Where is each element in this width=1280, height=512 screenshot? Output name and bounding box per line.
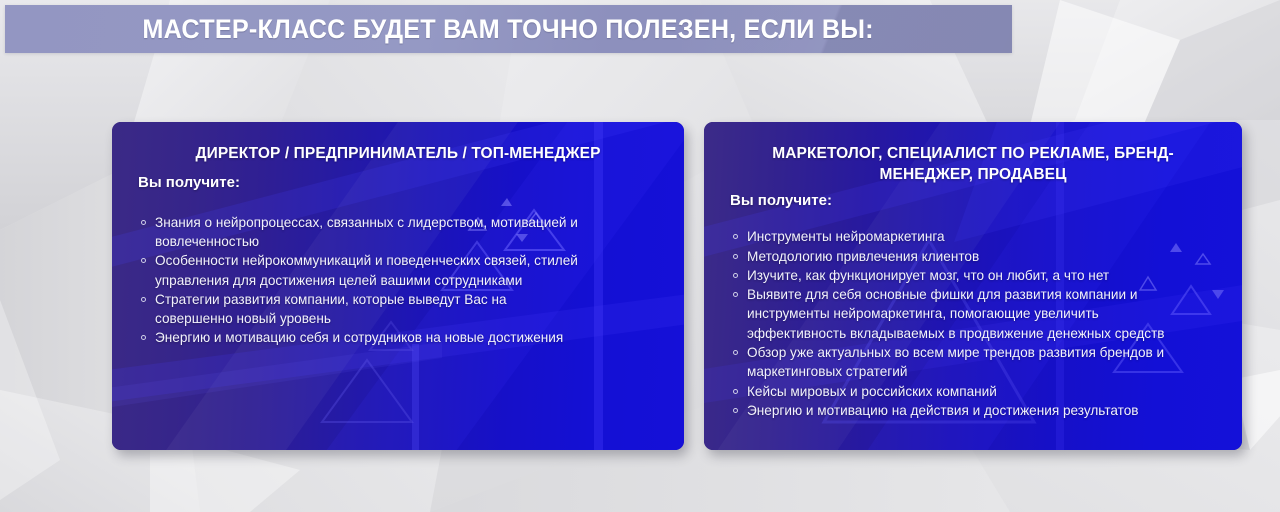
list-item: Методологию привлечения клиентов: [730, 247, 1199, 266]
card-content: МАРКЕТОЛОГ, СПЕЦИАЛИСТ ПО РЕКЛАМЕ, БРЕНД…: [704, 122, 1242, 450]
card-content: ДИРЕКТОР / ПРЕДПРИНИМАТЕЛЬ / ТОП-МЕНЕДЖЕ…: [112, 122, 684, 450]
list-item: Особенности нейрокоммуникаций и поведенч…: [138, 251, 585, 290]
list-item: Кейсы мировых и российских компаний: [730, 382, 1199, 401]
list-item: Обзор уже актуальных во всем мире трендо…: [730, 343, 1199, 382]
benefit-list: Знания о нейропроцессах, связанных с лид…: [138, 213, 658, 348]
list-item: Энергию и мотивацию себя и сотрудников н…: [138, 328, 585, 347]
list-item: Стратегии развития компании, которые выв…: [138, 290, 585, 329]
list-item: Знания о нейропроцессах, связанных с лид…: [138, 213, 585, 252]
list-item: Изучите, как функционирует мозг, что он …: [730, 266, 1199, 285]
card-title: ДИРЕКТОР / ПРЕДПРИНИМАТЕЛЬ / ТОП-МЕНЕДЖЕ…: [146, 144, 650, 165]
card-subtitle: Вы получите:: [138, 174, 658, 191]
card-title: МАРКЕТОЛОГ, СПЕЦИАЛИСТ ПО РЕКЛАМЕ, БРЕНД…: [738, 144, 1208, 185]
cards-container: ДИРЕКТОР / ПРЕДПРИНИМАТЕЛЬ / ТОП-МЕНЕДЖЕ…: [0, 0, 1280, 512]
slide-root: МАСТЕР-КЛАСС БУДЕТ ВАМ ТОЧНО ПОЛЕЗЕН, ЕС…: [0, 0, 1280, 512]
benefit-list: Инструменты нейромаркетинга Методологию …: [730, 227, 1216, 420]
list-item: Инструменты нейромаркетинга: [730, 227, 1199, 246]
header-banner: МАСТЕР-КЛАСС БУДЕТ ВАМ ТОЧНО ПОЛЕЗЕН, ЕС…: [5, 5, 1012, 53]
card-director[interactable]: ДИРЕКТОР / ПРЕДПРИНИМАТЕЛЬ / ТОП-МЕНЕДЖЕ…: [112, 122, 684, 450]
list-item: Выявите для себя основные фишки для разв…: [730, 285, 1199, 343]
card-subtitle: Вы получите:: [730, 192, 1216, 209]
list-item: Энергию и мотивацию на действия и достиж…: [730, 401, 1199, 420]
page-title: МАСТЕР-КЛАСС БУДЕТ ВАМ ТОЧНО ПОЛЕЗЕН, ЕС…: [143, 16, 874, 43]
card-marketer[interactable]: МАРКЕТОЛОГ, СПЕЦИАЛИСТ ПО РЕКЛАМЕ, БРЕНД…: [704, 122, 1242, 450]
